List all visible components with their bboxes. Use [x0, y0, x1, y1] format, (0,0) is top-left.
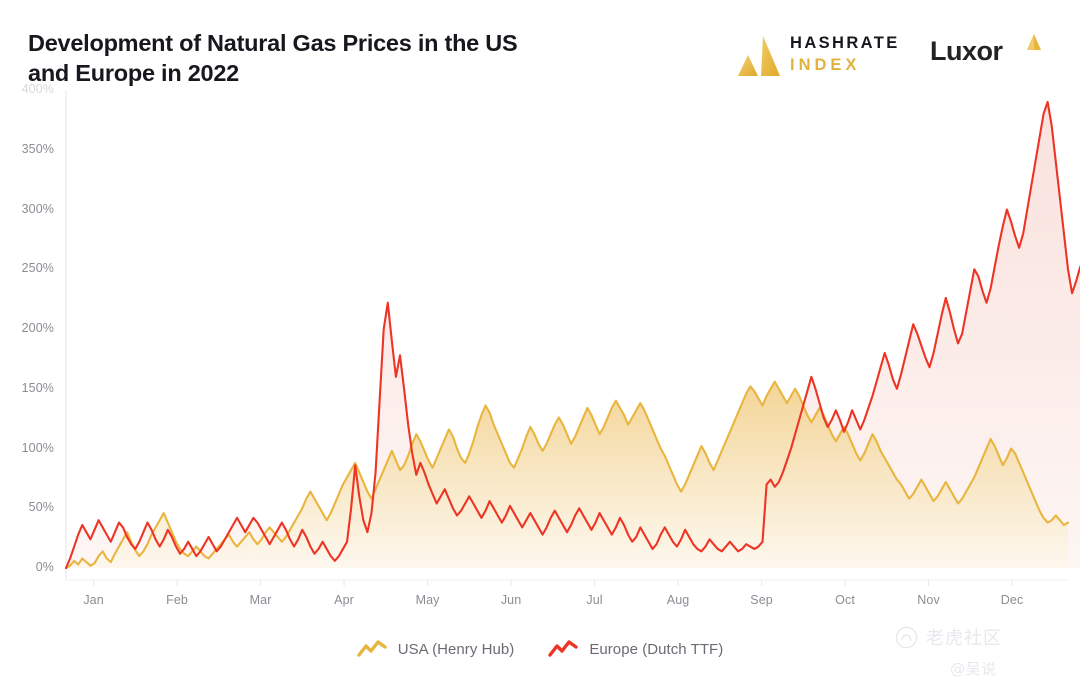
- x-axis-tick-sep: Sep: [750, 593, 773, 607]
- x-axis-tick-feb: Feb: [166, 593, 188, 607]
- legend-label-usa: USA (Henry Hub): [398, 641, 515, 658]
- x-axis-tick-marks: [94, 580, 1013, 586]
- luxor-wordmark: Luxor: [930, 36, 1003, 67]
- y-axis-tick-100: 100%: [2, 441, 54, 455]
- y-axis-tick-0: 0%: [2, 560, 54, 574]
- legend-item-usa[interactable]: USA (Henry Hub): [357, 640, 515, 659]
- hashrate-index-wordmark: HASHRATE INDEX: [790, 35, 900, 73]
- line-chart-svg: [0, 80, 1080, 615]
- y-axis-tick-250: 250%: [2, 261, 54, 275]
- legend-item-europe[interactable]: Europe (Dutch TTF): [548, 640, 723, 659]
- legend-label-europe: Europe (Dutch TTF): [589, 641, 723, 658]
- chart-series-group: [66, 102, 1080, 568]
- x-axis-tick-oct: Oct: [835, 593, 855, 607]
- y-axis-tick-50: 50%: [2, 500, 54, 514]
- x-axis-tick-jan: Jan: [83, 593, 103, 607]
- y-axis-tick-300: 300%: [2, 202, 54, 216]
- x-axis-tick-nov: Nov: [917, 593, 940, 607]
- x-axis-tick-mar: Mar: [250, 593, 272, 607]
- y-axis-tick-400: 400%: [2, 82, 54, 96]
- y-axis-tick-150: 150%: [2, 381, 54, 395]
- x-axis-tick-jul: Jul: [586, 593, 602, 607]
- chart-plot-area: 0%50%100%150%200%250%300%350%400% JanFeb…: [0, 80, 1080, 615]
- x-axis-tick-aug: Aug: [667, 593, 690, 607]
- luxor-logo: Luxor: [930, 36, 1055, 78]
- europe-line-swatch-icon: [548, 640, 578, 659]
- chart-page: Development of Natural Gas Prices in the…: [0, 0, 1080, 693]
- y-axis-tick-200: 200%: [2, 321, 54, 335]
- hashrate-logo-line1: HASHRATE: [790, 35, 900, 52]
- y-axis-tick-350: 350%: [2, 142, 54, 156]
- x-axis-tick-dec: Dec: [1001, 593, 1024, 607]
- x-axis-tick-may: May: [416, 593, 440, 607]
- hashrate-index-triangle-mark: [737, 35, 781, 77]
- x-axis-tick-apr: Apr: [334, 593, 354, 607]
- chart-legend: USA (Henry Hub) Europe (Dutch TTF): [0, 628, 1080, 670]
- usa-line-swatch-icon: [357, 640, 387, 659]
- x-axis-tick-jun: Jun: [501, 593, 521, 607]
- hashrate-logo-line2: INDEX: [790, 57, 900, 74]
- hashrate-index-logo: HASHRATE INDEX: [737, 33, 897, 79]
- luxor-triangle-mark: [1024, 32, 1044, 52]
